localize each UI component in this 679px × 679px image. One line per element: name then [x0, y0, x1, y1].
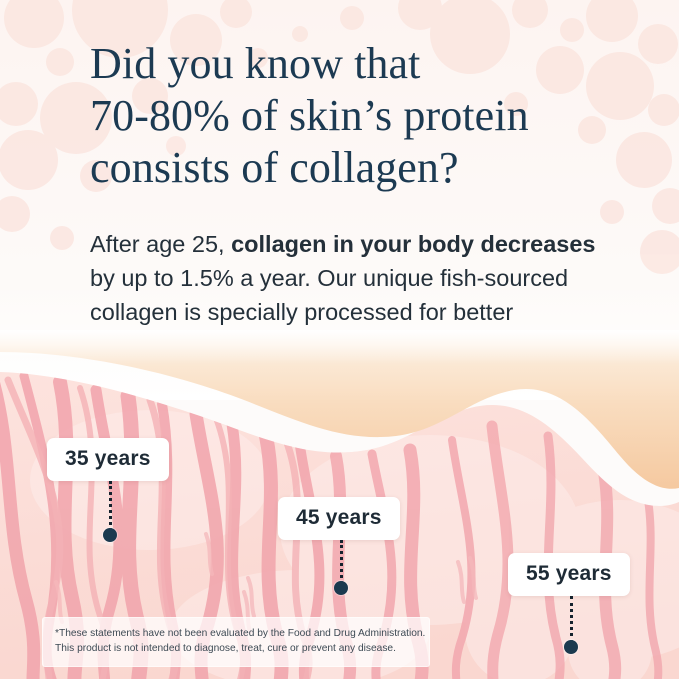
marker-label-55[interactable]: 55 years — [508, 553, 630, 596]
collagen-infographic: Did you know that 70-80% of skin’s prote… — [0, 0, 679, 679]
marker-stem-35 — [109, 481, 112, 531]
body-segment-bold: collagen in your body decreases — [231, 231, 595, 257]
disclaimer-panel: *These statements have not been evaluate… — [42, 617, 430, 667]
marker-label-45[interactable]: 45 years — [278, 497, 400, 540]
disclaimer-line-2: This product is not intended to diagnose… — [55, 642, 417, 657]
marker-dot-55[interactable] — [564, 640, 578, 654]
marker-dot-35[interactable] — [103, 528, 117, 542]
marker-dot-45[interactable] — [334, 581, 348, 595]
headline-line-2: 70-80% of skin’s protein — [90, 90, 620, 142]
disclaimer-line-1: *These statements have not been evaluate… — [55, 627, 417, 642]
headline-line-1: Did you know that — [90, 38, 620, 90]
marker-stem-45 — [340, 540, 343, 584]
page-title: Did you know that 70-80% of skin’s prote… — [90, 38, 620, 194]
marker-label-35[interactable]: 35 years — [47, 438, 169, 481]
headline-line-3: consists of collagen? — [90, 142, 620, 194]
band-top-fade — [0, 330, 679, 364]
marker-stem-55 — [570, 596, 573, 643]
body-segment-1: After age 25, — [90, 231, 231, 257]
